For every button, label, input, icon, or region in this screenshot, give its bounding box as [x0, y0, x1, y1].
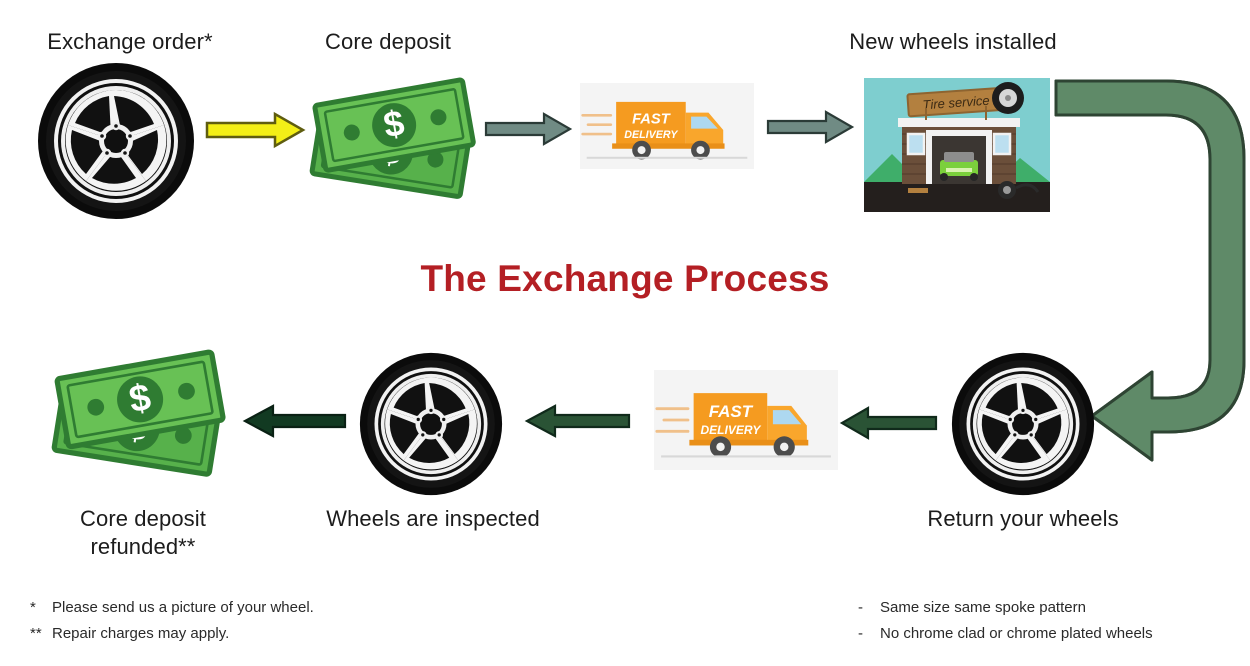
step-label-exchange-order: Exchange order* [0, 28, 260, 56]
arrow-left-icon [525, 404, 631, 438]
footnote-marker: - [858, 621, 880, 647]
wheel-graphic [36, 62, 196, 220]
money-icon: $ $ [52, 352, 230, 478]
step-label-new-wheels-installed: New wheels installed [808, 28, 1098, 56]
footnote-item: *Please send us a picture of your wheel. [30, 595, 314, 621]
arrow-right-icon [484, 112, 572, 146]
tire-service-garage-icon: Tire service [864, 78, 1050, 212]
delivery-truck-icon: FAST DELIVERY [580, 83, 754, 169]
footnote-text: Repair charges may apply. [52, 625, 229, 642]
garage-graphic: Tire service [864, 78, 1050, 212]
arrow-deposit-to-truck [484, 112, 572, 146]
wheel-icon [950, 352, 1096, 496]
step-label-core-deposit-refunded: Core deposit refunded** [18, 505, 268, 560]
footnotes-left: *Please send us a picture of your wheel.… [30, 595, 314, 648]
step-label-line2: refunded** [18, 533, 268, 561]
delivery-truck-graphic: FAST DELIVERY [580, 83, 754, 169]
footnote-text: Please send us a picture of your wheel. [52, 599, 314, 616]
arrow-left-icon [840, 406, 938, 440]
wheel-graphic [358, 352, 504, 496]
step-label-wheels-are-inspected: Wheels are inspected [288, 505, 578, 533]
footnote-marker: ** [30, 621, 52, 647]
footnote-item: -Same size same spoke pattern [858, 595, 1153, 621]
wheel-graphic [950, 352, 1096, 496]
truck-text-line1: FAST [709, 402, 754, 421]
arrow-order-to-deposit [205, 112, 305, 148]
wheel-icon [36, 62, 196, 220]
footnote-marker: - [858, 595, 880, 621]
footnote-item: -No chrome clad or chrome plated wheels [858, 621, 1153, 647]
footnote-text: Same size same spoke pattern [880, 599, 1086, 616]
step-label-return-your-wheels: Return your wheels [878, 505, 1168, 533]
footnotes-right: -Same size same spoke pattern -No chrome… [858, 595, 1153, 648]
footnote-marker: * [30, 595, 52, 621]
arrow-right-icon [766, 110, 854, 144]
arrow-right-icon [205, 112, 305, 148]
delivery-truck-icon: FAST DELIVERY [654, 370, 838, 470]
wheel-icon [358, 352, 504, 496]
truck-text-line2: DELIVERY [624, 129, 678, 141]
truck-text-line1: FAST [632, 111, 672, 127]
delivery-truck-graphic: FAST DELIVERY [654, 370, 838, 470]
money-graphic: $ $ [310, 80, 480, 200]
money-graphic: $ $ [52, 352, 230, 478]
footnote-item: **Repair charges may apply. [30, 621, 314, 647]
money-icon: $ $ [310, 80, 480, 200]
arrow-return-to-truck [840, 406, 938, 440]
arrow-truck-to-inspection [525, 404, 631, 438]
arrow-truck-to-garage [766, 110, 854, 144]
truck-text-line2: DELIVERY [700, 423, 761, 437]
step-label-core-deposit: Core deposit [268, 28, 508, 56]
step-label-line1: Core deposit [18, 505, 268, 533]
arrow-inspection-to-refund [243, 404, 347, 438]
footnote-text: No chrome clad or chrome plated wheels [880, 625, 1153, 642]
arrow-left-icon [243, 404, 347, 438]
